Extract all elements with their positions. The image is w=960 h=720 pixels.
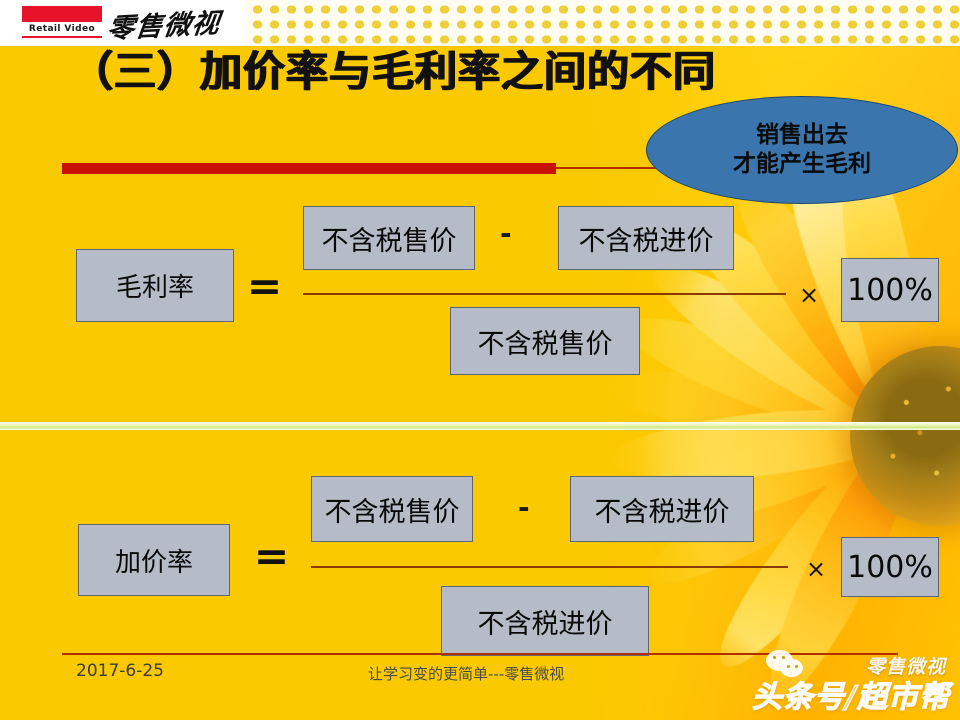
formula-2-numerator-right-box: 不含税进价 bbox=[570, 476, 754, 542]
slide-canvas: Retail Video 零售微视 （三）加价率与毛利率之间的不同 毛利率 = … bbox=[0, 0, 960, 720]
watermark: 零售微视 头条号/超市帮 bbox=[720, 652, 950, 716]
logo-mark-icon: Retail Video bbox=[22, 6, 102, 38]
formula-2-times-sign: × bbox=[806, 557, 826, 581]
formula-2-multiplier-box: 100% bbox=[841, 537, 939, 597]
section-divider bbox=[0, 422, 960, 430]
callout-line-1: 销售出去 bbox=[756, 121, 848, 150]
red-accent-bar bbox=[62, 163, 556, 174]
sunflower-disc bbox=[850, 346, 960, 526]
footer-rule bbox=[62, 653, 898, 655]
footer-date: 2017-6-25 bbox=[76, 661, 164, 681]
formula-1-fraction-bar bbox=[303, 293, 786, 295]
formula-2-fraction-bar bbox=[311, 566, 788, 568]
formula-2-minus-sign: - bbox=[518, 494, 530, 522]
logo-mark-label: Retail Video bbox=[22, 22, 102, 36]
formula-1-minus-sign: - bbox=[500, 220, 512, 248]
formula-1-numerator-right-box: 不含税进价 bbox=[558, 206, 734, 270]
formula-1-equals-sign: = bbox=[247, 267, 281, 307]
watermark-bottom-text: 头条号/超市帮 bbox=[752, 672, 950, 716]
page-title: （三）加价率与毛利率之间的不同 bbox=[70, 38, 715, 99]
formula-1-label-box: 毛利率 bbox=[76, 249, 234, 322]
formula-1-numerator-left-box: 不含税售价 bbox=[303, 206, 475, 270]
watermark-top-text: 零售微视 bbox=[866, 652, 946, 679]
formula-2-denominator-box: 不含税进价 bbox=[441, 586, 649, 656]
formula-1-denominator-box: 不含税售价 bbox=[450, 307, 640, 375]
callout-ellipse: 销售出去 才能产生毛利 bbox=[646, 96, 958, 204]
footer-center-text: 让学习变的更简单---零售微视 bbox=[368, 663, 564, 684]
formula-1-multiplier-box: 100% bbox=[841, 258, 939, 322]
brand-logo: Retail Video 零售微视 bbox=[22, 6, 242, 42]
formula-1-times-sign: × bbox=[799, 283, 819, 307]
sunflower-petal bbox=[607, 357, 913, 460]
callout-line-2: 才能产生毛利 bbox=[733, 150, 871, 179]
formula-2-equals-sign: = bbox=[254, 537, 288, 577]
formula-2-label-box: 加价率 bbox=[78, 524, 230, 596]
formula-2-numerator-left-box: 不含税售价 bbox=[311, 476, 473, 542]
